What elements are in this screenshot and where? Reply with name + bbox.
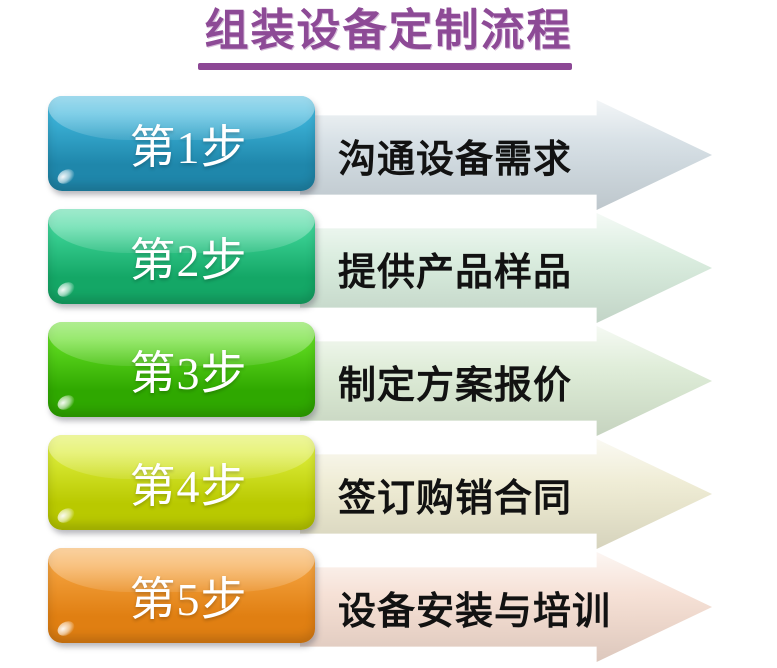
step-badge-4-text: 第4步 bbox=[48, 435, 315, 530]
flow-step-row: 制定方案报价 第3步 bbox=[0, 322, 777, 417]
step-badge-5-text: 第5步 bbox=[48, 548, 315, 643]
step-badge-3[interactable]: 第3步 bbox=[48, 322, 315, 417]
step-badge-1-text: 第1步 bbox=[48, 96, 315, 191]
step-badge-2[interactable]: 第2步 bbox=[48, 209, 315, 304]
step-badge-1[interactable]: 第1步 bbox=[48, 96, 315, 191]
step-label-4: 签订购销合同 bbox=[338, 435, 572, 553]
step-label-5: 设备安装与培训 bbox=[338, 548, 611, 666]
step-label-1: 沟通设备需求 bbox=[338, 96, 572, 214]
step-badge-2-text: 第2步 bbox=[48, 209, 315, 304]
page-title-text: 组装设备定制流程 bbox=[205, 8, 573, 54]
page-title: 组装设备定制流程 bbox=[0, 8, 777, 54]
process-flow-list: 沟通设备需求 第1步 提供产品样品 第2步 制定方案报价 第3步 bbox=[0, 96, 777, 661]
flow-step-row: 签订购销合同 第4步 bbox=[0, 435, 777, 530]
step-label-3: 制定方案报价 bbox=[338, 322, 572, 440]
step-badge-5[interactable]: 第5步 bbox=[48, 548, 315, 643]
title-underline bbox=[198, 63, 572, 70]
step-badge-4[interactable]: 第4步 bbox=[48, 435, 315, 530]
step-badge-3-text: 第3步 bbox=[48, 322, 315, 417]
flow-step-row: 沟通设备需求 第1步 bbox=[0, 96, 777, 191]
flow-step-row: 设备安装与培训 第5步 bbox=[0, 548, 777, 643]
flow-step-row: 提供产品样品 第2步 bbox=[0, 209, 777, 304]
step-label-2: 提供产品样品 bbox=[338, 209, 572, 327]
